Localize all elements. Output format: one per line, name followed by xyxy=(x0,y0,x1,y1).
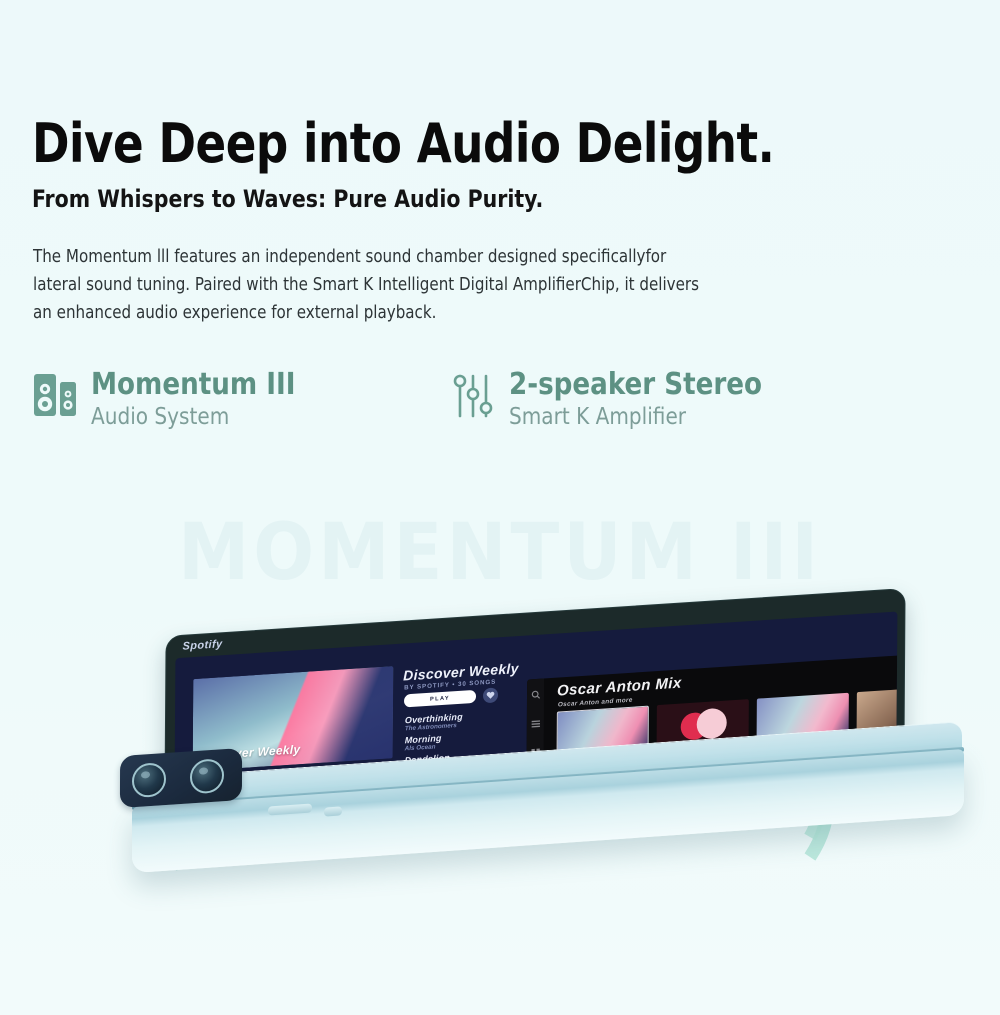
tablet-device: Spotify Discover Weekly Your weekly mixt… xyxy=(60,600,960,900)
feature-subtitle: Audio System xyxy=(91,402,295,432)
watermark-text: MOMENTUM III xyxy=(178,508,822,598)
heart-icon[interactable] xyxy=(483,687,498,703)
lens-glint xyxy=(199,767,208,775)
mix-title: Oscar Anton Mix xyxy=(557,675,682,700)
speaker-icon xyxy=(33,368,77,425)
page-subheadline: From Whispers to Waves: Pure Audio Purit… xyxy=(32,185,543,213)
feature-text: Momentum III Audio System xyxy=(91,368,302,432)
feature-momentum-audio: Momentum III Audio System xyxy=(33,368,302,432)
power-button[interactable] xyxy=(324,806,342,816)
page-headline: Dive Deep into Audio Delight. xyxy=(32,112,774,175)
tablet-body xyxy=(78,750,978,878)
lens-glint xyxy=(141,771,150,779)
feature-title: 2-speaker Stereo xyxy=(509,368,762,402)
camera-lens xyxy=(190,758,224,794)
promo-page: Dive Deep into Audio Delight. From Whisp… xyxy=(0,0,1000,1015)
equalizer-icon xyxy=(453,368,495,425)
play-button[interactable]: PLAY xyxy=(404,690,476,708)
feature-title: Momentum III xyxy=(91,368,295,402)
spotify-wordmark: Spotify xyxy=(182,638,222,653)
feature-text: 2-speaker Stereo Smart K Amplifier xyxy=(509,368,770,432)
camera-module xyxy=(120,748,242,808)
feature-subtitle: Smart K Amplifier xyxy=(509,402,762,432)
feature-stereo-amplifier: 2-speaker Stereo Smart K Amplifier xyxy=(453,368,770,432)
camera-lens xyxy=(132,762,166,798)
description-paragraph: The Momentum lll features an independent… xyxy=(33,243,705,327)
blend-circle-b xyxy=(697,708,727,740)
search-icon[interactable] xyxy=(530,687,540,706)
list-icon[interactable] xyxy=(530,716,540,735)
